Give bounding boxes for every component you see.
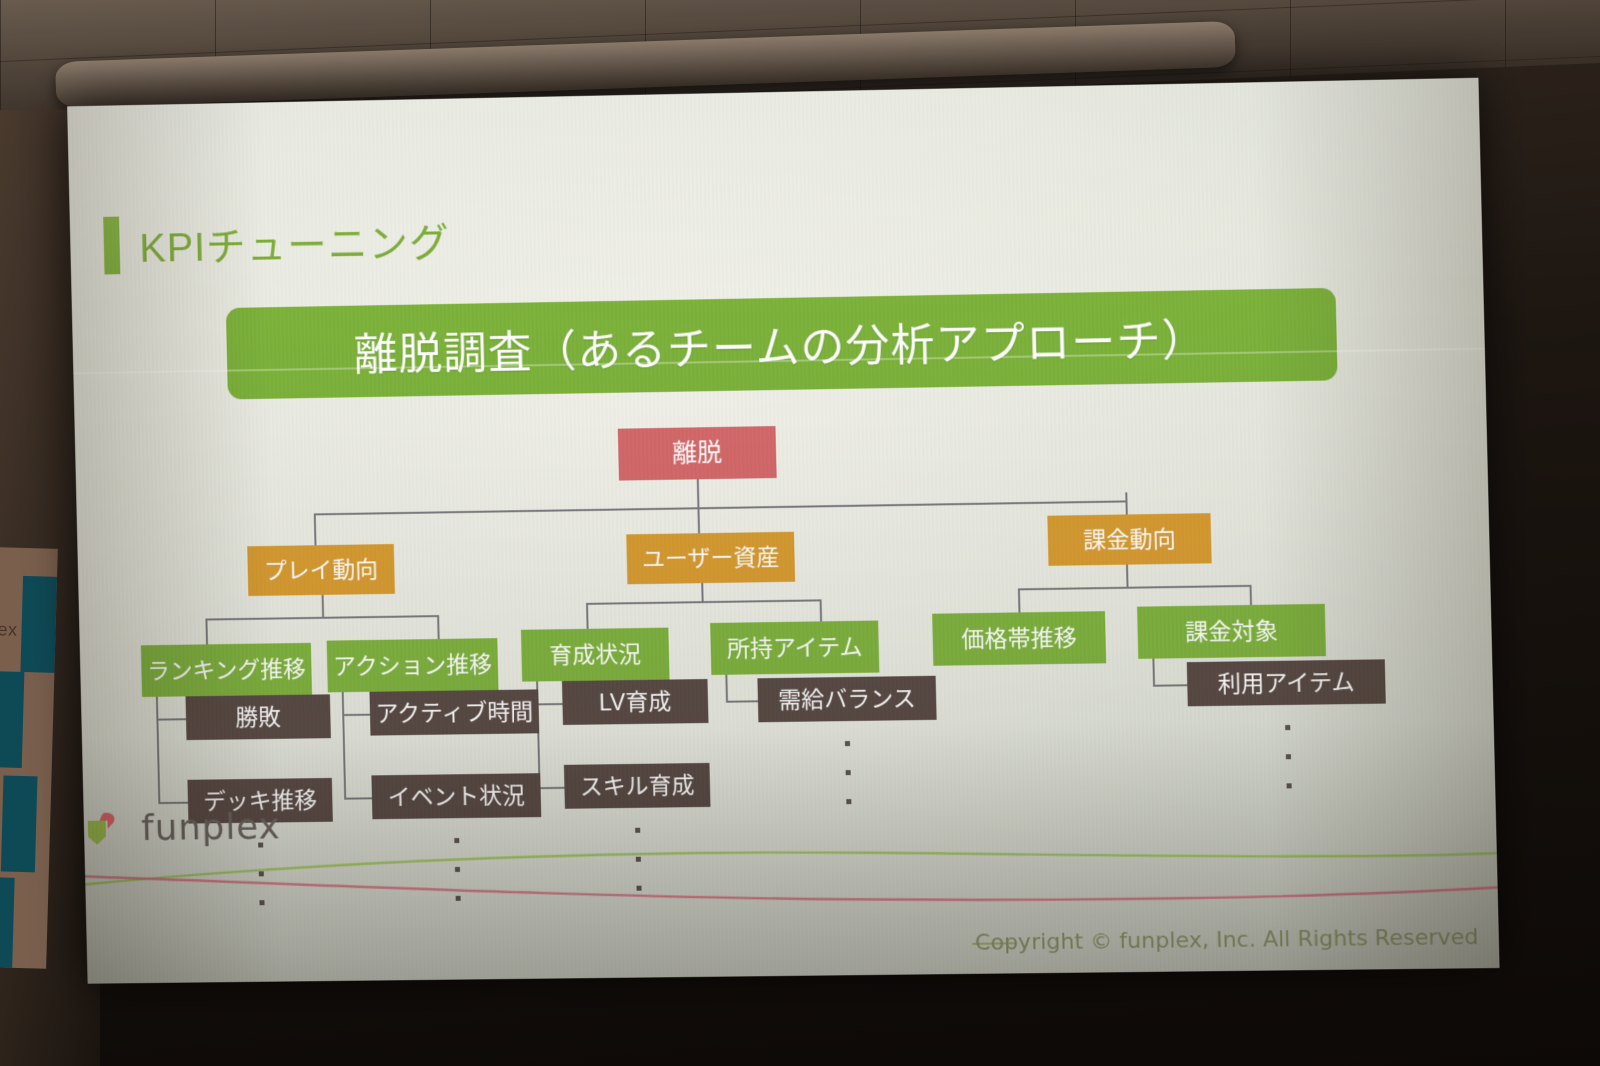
connector-payment-stem: [1126, 565, 1129, 587]
connector-action-elbow-2: [344, 797, 372, 799]
tree-node-label: プレイ動向: [264, 558, 378, 583]
tree-node-label: 課金対象: [1185, 619, 1278, 643]
tree-leaf-winloss: 勝敗: [185, 694, 330, 740]
tree-node-level3-target: 課金対象: [1137, 604, 1326, 659]
ellipsis-dot: [1286, 754, 1291, 759]
projection-screen-wrapper: KPIチューニング 離脱調査（あるチームの分析アプローチ） 離脱: [0, 0, 1600, 1066]
tree-node-label: 所持アイテム: [727, 635, 863, 660]
funplex-mark-icon: [83, 806, 127, 850]
tree-node-level3-action: アクション推移: [327, 638, 499, 692]
tree-node-level3-items: 所持アイテム: [710, 621, 879, 675]
tree-node-label: アクティブ時間: [375, 700, 533, 725]
tree-node-label: イベント状況: [388, 784, 526, 809]
tree-node-label: スキル育成: [580, 774, 695, 798]
tree-leaf-supplydemand: 需給バランス: [757, 676, 936, 723]
connector-root-stem: [697, 479, 700, 509]
tree-node-label: 育成状況: [549, 643, 641, 667]
tree-node-level3-growth: 育成状況: [521, 628, 670, 682]
connector-play-bus: [205, 615, 439, 620]
tree-node-label: ユーザー資産: [642, 545, 780, 570]
tree-leaf-useditems: 利用アイテム: [1187, 659, 1386, 706]
connector-ranking-spine: [156, 697, 160, 804]
tree-node-label: 利用アイテム: [1217, 670, 1355, 695]
ellipsis-items: [845, 741, 851, 804]
tree-node-label: 需給バランス: [778, 687, 916, 712]
connector-items-elbow: [726, 700, 758, 702]
slide: KPIチューニング 離脱調査（あるチームの分析アプローチ） 離脱: [67, 78, 1499, 984]
brand-logo: funplex: [83, 804, 280, 850]
footer-swoosh: [84, 795, 1499, 942]
tree-node-label: 課金動向: [1083, 527, 1176, 552]
connector-assets-bus: [586, 599, 820, 605]
tree-leaf-skill: スキル育成: [564, 763, 711, 809]
tree-node-level3-price: 価格帯推移: [932, 611, 1106, 666]
connector-action-elbow-1: [342, 714, 370, 716]
ellipsis-dot: [1287, 783, 1292, 788]
projection-screen: KPIチューニング 離脱調査（あるチームの分析アプローチ） 離脱: [67, 78, 1499, 984]
connector-growth-elbow-1: [537, 703, 563, 705]
connector-items-spine: [725, 675, 728, 703]
connector-assets-stem: [701, 583, 703, 601]
ellipsis-dot: [1285, 725, 1290, 730]
tree-node-root: 離脱: [618, 426, 777, 481]
brand-name: funplex: [141, 806, 281, 849]
connector-target-spine: [1152, 659, 1155, 687]
tree-node-level2-assets: ユーザー資産: [626, 532, 795, 585]
connector-growth-elbow-2: [539, 787, 565, 789]
tree-node-label: 価格帯推移: [961, 626, 1077, 651]
connector-payment-drop-1: [1018, 588, 1021, 614]
tree-node-label: LV育成: [599, 690, 672, 714]
ellipsis-dot: [846, 770, 851, 775]
connector-root-drop-1: [314, 513, 317, 545]
connector-target-elbow: [1153, 684, 1187, 686]
tree-node-label: ランキング推移: [147, 657, 306, 682]
tree-node-level2-payment: 課金動向: [1047, 513, 1211, 566]
tree-node-label: 勝敗: [235, 705, 281, 729]
connector-play-stem: [322, 595, 324, 617]
tree-leaf-lv: LV育成: [562, 679, 709, 725]
tree-node-level2-play: プレイ動向: [247, 544, 395, 596]
tree-node-level3-ranking: ランキング推移: [141, 643, 312, 697]
connector-play-drop-1: [205, 619, 208, 645]
connector-assets-drop-1: [586, 603, 589, 629]
tree-leaf-activetime: アクティブ時間: [369, 689, 539, 735]
tree-node-label: アクション推移: [333, 653, 492, 678]
ellipsis-target: [1285, 725, 1292, 788]
connector-action-spine: [342, 692, 347, 800]
connector-root-bus: [314, 500, 1128, 515]
connector-ranking-elbow-2: [158, 802, 188, 804]
connector-ranking-elbow-1: [156, 718, 186, 720]
ellipsis-dot: [845, 741, 850, 746]
tree-node-label: 離脱: [672, 440, 723, 466]
connector-play-drop-2: [437, 615, 440, 641]
connector-payment-bus: [1018, 585, 1250, 591]
